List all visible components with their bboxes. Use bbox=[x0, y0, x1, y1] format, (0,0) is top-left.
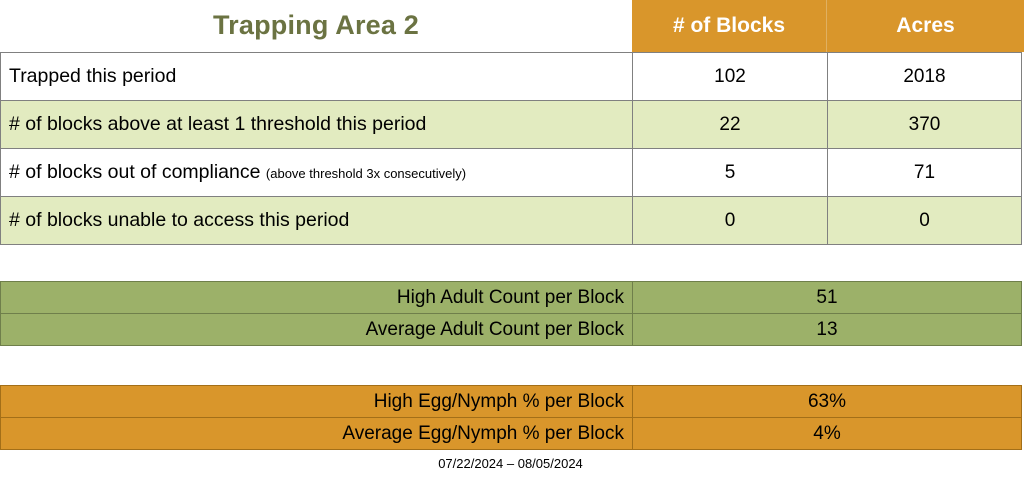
row-label-text: Trapped this period bbox=[9, 65, 176, 87]
stat-label: Average Egg/Nymph % per Block bbox=[1, 418, 633, 450]
table-row: High Egg/Nymph % per Block 63% bbox=[1, 386, 1022, 418]
table-row: # of blocks above at least 1 threshold t… bbox=[1, 101, 1022, 149]
stat-value: 4% bbox=[633, 418, 1022, 450]
table-row: Average Egg/Nymph % per Block 4% bbox=[1, 418, 1022, 450]
row-acres-value: 370 bbox=[828, 101, 1022, 149]
row-label-text: # of blocks above at least 1 threshold t… bbox=[9, 113, 426, 135]
stat-value: 13 bbox=[633, 314, 1022, 346]
table-row: # of blocks unable to access this period… bbox=[1, 197, 1022, 245]
main-summary-table: Trapped this period 102 2018 # of blocks… bbox=[0, 52, 1022, 245]
title-cell: Trapping Area 2 bbox=[0, 0, 632, 52]
row-label: Trapped this period bbox=[1, 53, 633, 101]
date-range-footer: 07/22/2024 – 08/05/2024 bbox=[0, 456, 1021, 471]
stat-value: 63% bbox=[633, 386, 1022, 418]
row-blocks-value: 5 bbox=[633, 149, 828, 197]
row-blocks-value: 102 bbox=[633, 53, 828, 101]
table-row: Average Adult Count per Block 13 bbox=[1, 314, 1022, 346]
row-blocks-value: 0 bbox=[633, 197, 828, 245]
egg-nymph-table: High Egg/Nymph % per Block 63% Average E… bbox=[0, 385, 1022, 450]
row-blocks-value: 22 bbox=[633, 101, 828, 149]
table-row: High Adult Count per Block 51 bbox=[1, 282, 1022, 314]
stat-label: Average Adult Count per Block bbox=[1, 314, 633, 346]
row-label-text: # of blocks out of compliance bbox=[9, 161, 260, 183]
table-row: Trapped this period 102 2018 bbox=[1, 53, 1022, 101]
stat-label: High Adult Count per Block bbox=[1, 282, 633, 314]
page-title: Trapping Area 2 bbox=[213, 12, 419, 41]
row-acres-value: 2018 bbox=[828, 53, 1022, 101]
stat-value: 51 bbox=[633, 282, 1022, 314]
column-header-blocks: # of Blocks bbox=[632, 0, 827, 52]
row-label-note: (above threshold 3x consecutively) bbox=[266, 166, 466, 181]
table-row: # of blocks out of compliance (above thr… bbox=[1, 149, 1022, 197]
report-header-band: Trapping Area 2 # of Blocks Acres bbox=[0, 0, 1024, 52]
stat-label: High Egg/Nymph % per Block bbox=[1, 386, 633, 418]
row-label: # of blocks out of compliance (above thr… bbox=[1, 149, 633, 197]
row-label: # of blocks unable to access this period bbox=[1, 197, 633, 245]
row-acres-value: 71 bbox=[828, 149, 1022, 197]
row-label: # of blocks above at least 1 threshold t… bbox=[1, 101, 633, 149]
adult-count-table: High Adult Count per Block 51 Average Ad… bbox=[0, 281, 1022, 346]
row-label-text: # of blocks unable to access this period bbox=[9, 209, 349, 231]
column-header-acres: Acres bbox=[827, 0, 1024, 52]
row-acres-value: 0 bbox=[828, 197, 1022, 245]
